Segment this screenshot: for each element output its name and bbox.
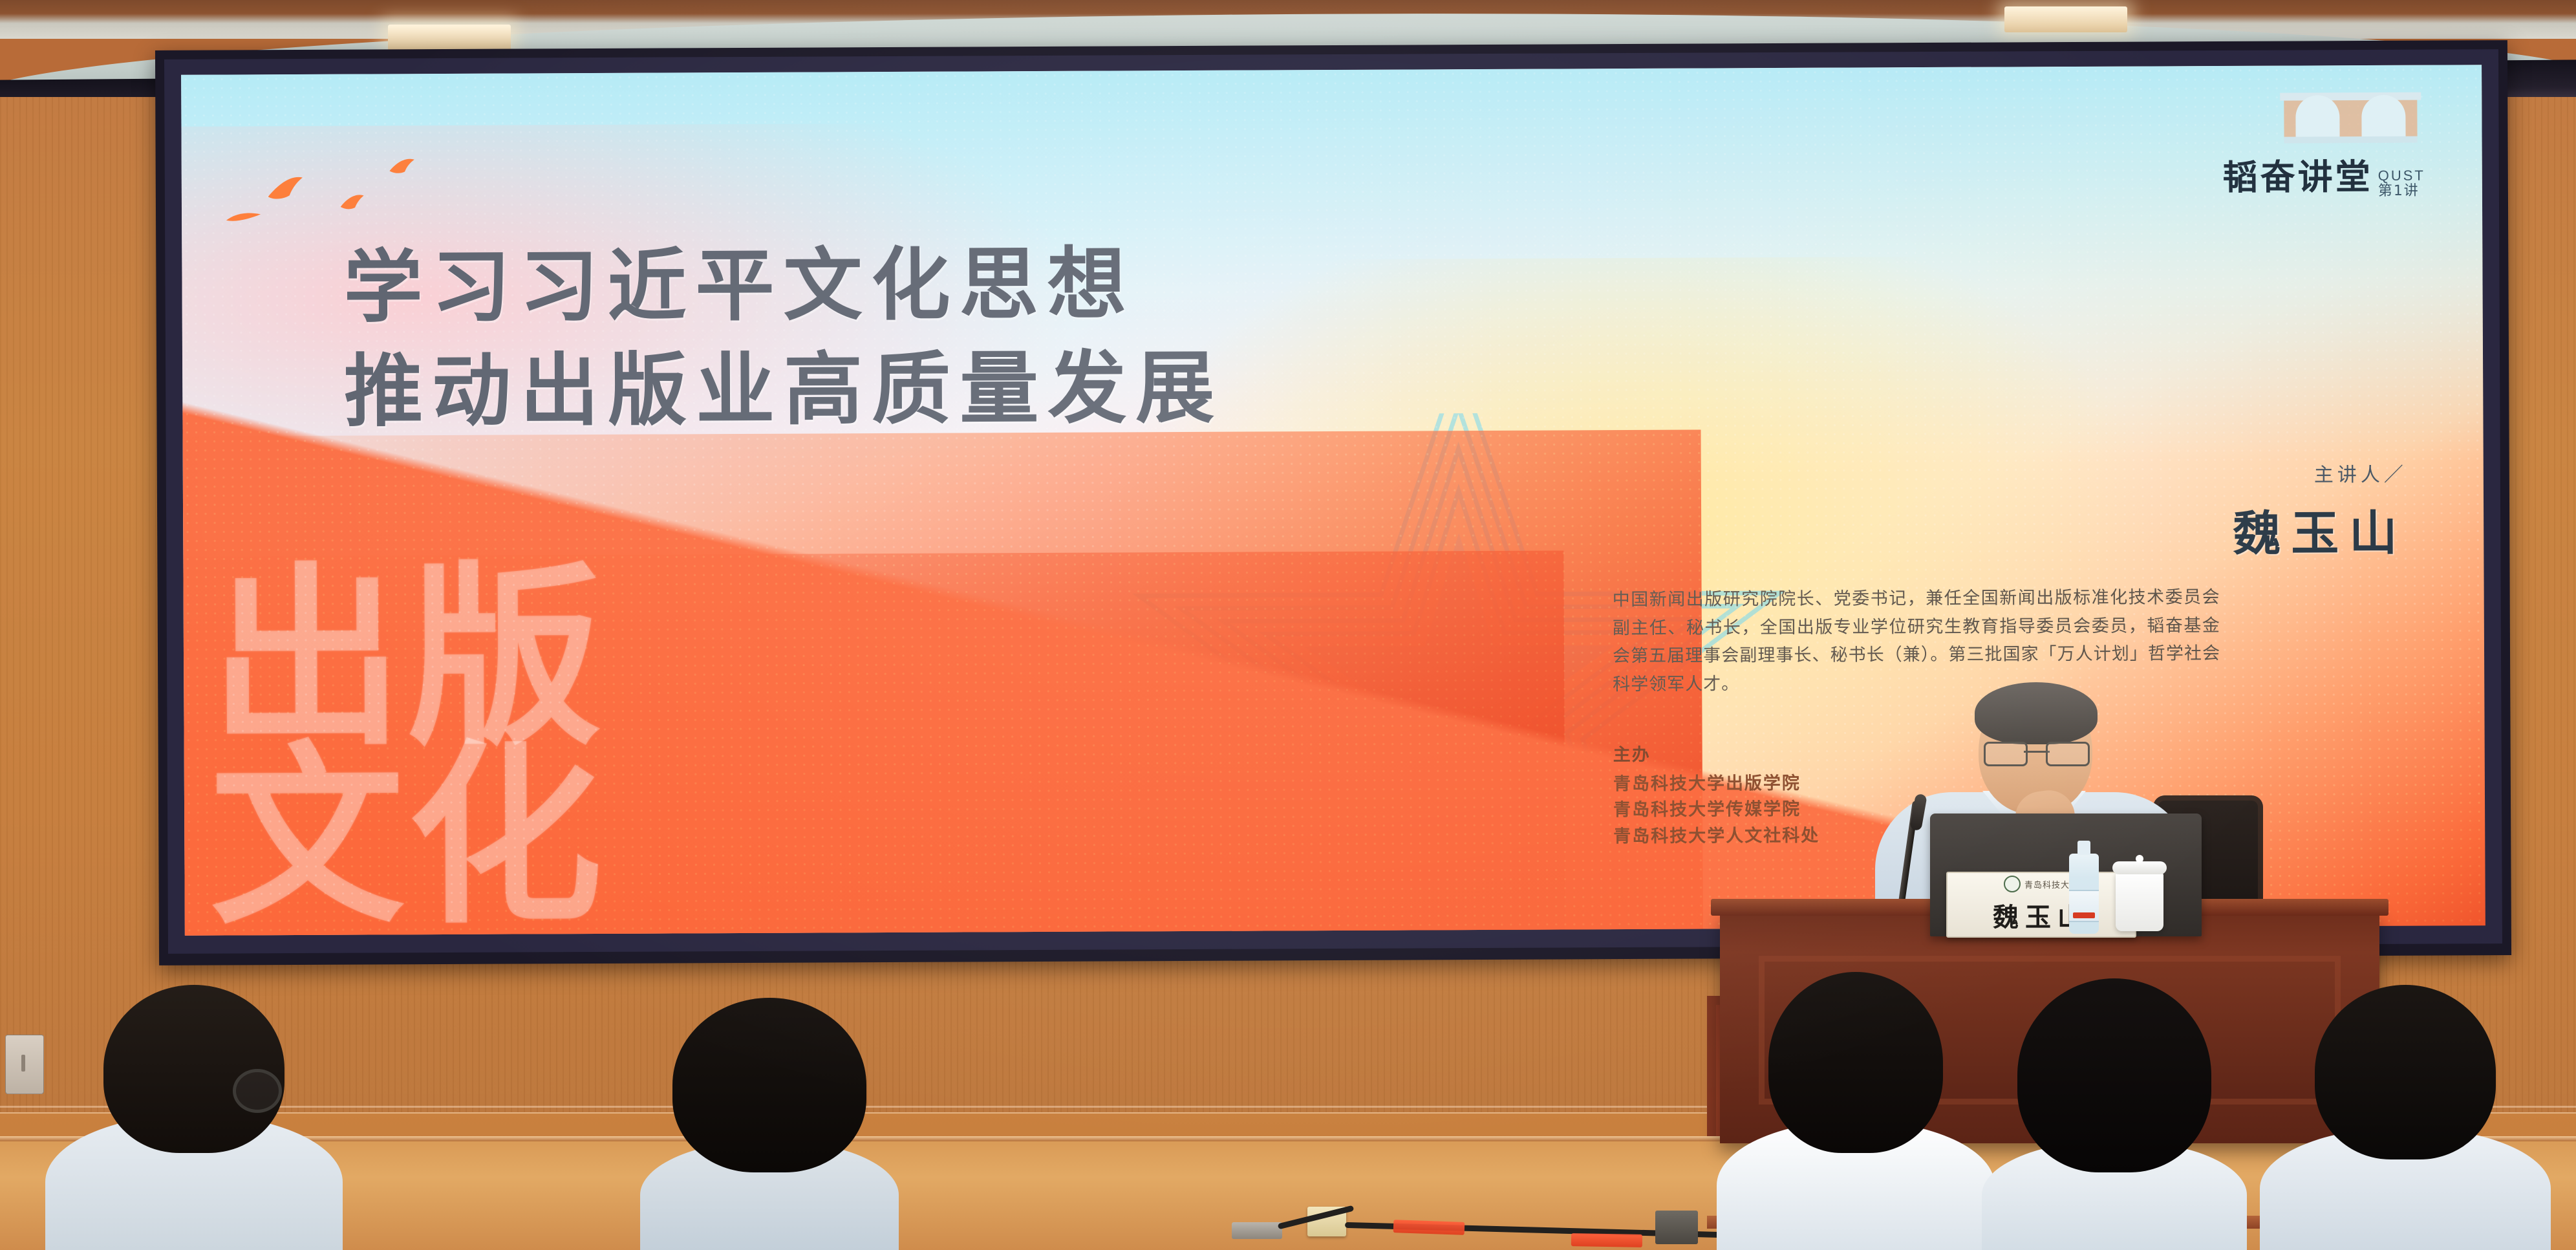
arch-bridge-icon <box>2276 91 2425 145</box>
host-org-3: 青岛科技大学人文社科处 <box>1613 825 1819 846</box>
audience-member <box>1979 1004 2250 1250</box>
logo-chinese-text: 韬奋讲堂 <box>2222 148 2372 200</box>
tea-cup-lid <box>2112 861 2167 874</box>
slide-title-line2: 推动出版业高质量发展 <box>344 342 1224 438</box>
power-outlet <box>5 1035 44 1094</box>
slide-title-line1: 学习习近平文化思想 <box>343 238 1135 333</box>
speaker-block: 主讲人／ 魏玉山 <box>1825 458 2408 566</box>
ceiling-light-left <box>388 25 511 50</box>
audience-head <box>1768 972 1943 1153</box>
ceiling-light-right <box>2004 6 2127 32</box>
university-seal-icon <box>2004 876 2021 892</box>
audience-member <box>634 1056 905 1250</box>
nameplate-org: 青岛科技大学 <box>2004 876 2079 892</box>
bird-icon-2 <box>224 208 263 230</box>
lecture-hall-photo: 出版 文化 <box>0 0 2576 1250</box>
audience-member <box>39 1037 349 1250</box>
floor-plate <box>1232 1222 1282 1239</box>
audience-head <box>2315 985 2496 1159</box>
logo-english-text: QUST <box>2378 167 2425 183</box>
audience-head <box>672 998 866 1172</box>
bird-icon-4 <box>387 154 427 181</box>
bottle-label <box>2069 890 2099 922</box>
logo-session-text: 第1讲 <box>2378 182 2420 199</box>
audience-member <box>1713 991 1998 1250</box>
speaker-label: 主讲人／ <box>1825 458 2407 490</box>
audience-head <box>2017 978 2211 1172</box>
equipment-block <box>1655 1211 1698 1244</box>
cable-tape-2 <box>1571 1233 1642 1247</box>
speaker-hair <box>1975 682 2098 744</box>
program-logo: 韬奋讲堂 QUST 第1讲 <box>2222 91 2425 200</box>
cable-tape-1 <box>1393 1220 1465 1235</box>
tea-cup <box>2116 872 2163 931</box>
bird-icon-3 <box>338 189 378 216</box>
bird-icon-1 <box>266 170 325 209</box>
host-org-2: 青岛科技大学传媒学院 <box>1613 799 1801 820</box>
speaker-name: 魏玉山 <box>1825 495 2407 566</box>
host-org-1: 青岛科技大学出版学院 <box>1613 773 1801 793</box>
audience-glasses <box>233 1069 282 1113</box>
audience-member <box>2257 1030 2554 1250</box>
slide-title: 学习习近平文化思想 推动出版业高质量发展 <box>343 232 1223 444</box>
nameplate: 青岛科技大学 魏玉山 <box>1946 872 2136 938</box>
water-bottle <box>2069 854 2099 934</box>
speaker-glasses <box>1984 742 2090 764</box>
